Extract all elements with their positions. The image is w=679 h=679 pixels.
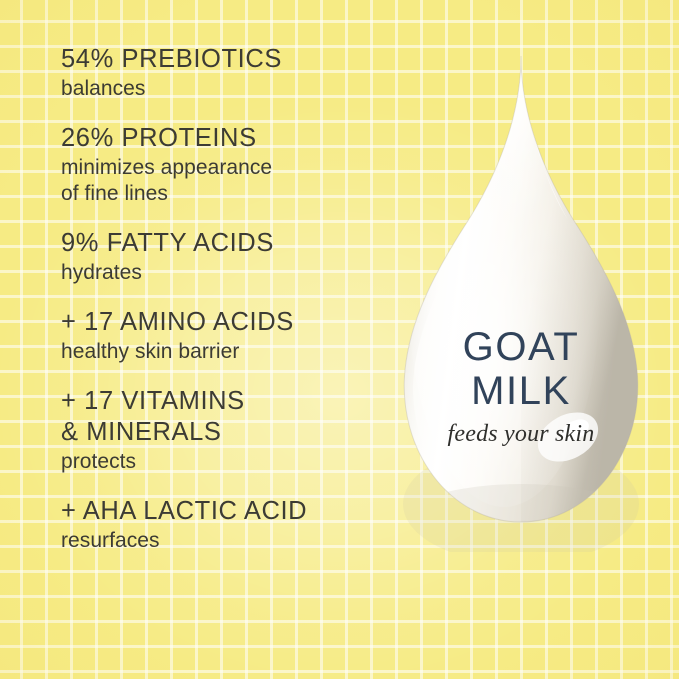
ingredient-fact-list: 54% PREBIOTICS balances 26% PROTEINS min… (61, 44, 391, 554)
fact-heading: + 17 VITAMINS & MINERALS (61, 386, 391, 448)
poster-canvas: 54% PREBIOTICS balances 26% PROTEINS min… (0, 0, 679, 679)
fact-subtext: minimizes appearance of fine lines (61, 155, 391, 207)
fact-heading: + 17 AMINO ACIDS (61, 307, 391, 338)
milk-droplet-illustration (392, 52, 650, 552)
fact-item-vitamins-minerals: + 17 VITAMINS & MINERALS protects (61, 386, 391, 475)
fact-item-amino-acids: + 17 AMINO ACIDS healthy skin barrier (61, 307, 391, 365)
fact-heading: 54% PREBIOTICS (61, 44, 391, 75)
fact-heading: 26% PROTEINS (61, 123, 391, 154)
fact-subtext: balances (61, 76, 391, 102)
fact-heading: 9% FATTY ACIDS (61, 228, 391, 259)
fact-subtext: hydrates (61, 260, 391, 286)
fact-item-aha-lactic-acid: + AHA LACTIC ACID resurfaces (61, 496, 391, 554)
fact-heading: + AHA LACTIC ACID (61, 496, 391, 527)
fact-subtext: protects (61, 449, 391, 475)
fact-item-proteins: 26% PROTEINS minimizes appearance of fin… (61, 123, 391, 207)
fact-item-prebiotics: 54% PREBIOTICS balances (61, 44, 391, 102)
fact-item-fatty-acids: 9% FATTY ACIDS hydrates (61, 228, 391, 286)
fact-subtext: resurfaces (61, 528, 391, 554)
fact-subtext: healthy skin barrier (61, 339, 391, 365)
